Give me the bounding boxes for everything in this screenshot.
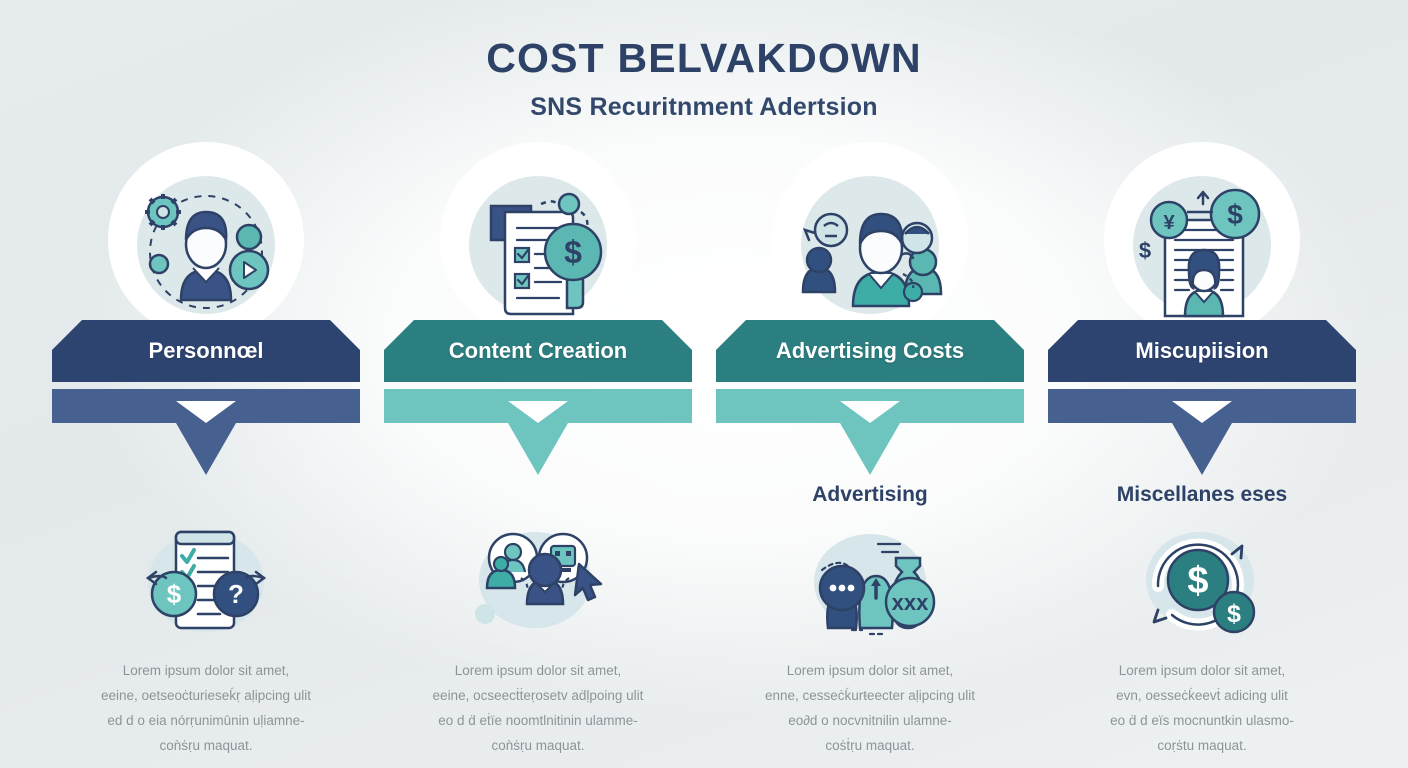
bottom-icon-slot	[384, 517, 692, 647]
banner-label: Personnœl	[149, 338, 264, 364]
page-subtitle: SNS Recuritnment Adertsion	[0, 93, 1408, 122]
svg-text:$: $	[167, 579, 182, 609]
top-icon-stage: $	[384, 170, 692, 320]
column-advertising-costs: Advertising Costs Advertising xxx	[716, 170, 1024, 759]
svg-text:$: $	[1139, 238, 1151, 263]
banner-bar	[384, 389, 692, 423]
column-container: Personnœl	[0, 170, 1408, 759]
abstract-shapes-xxx-icon: xxx	[800, 522, 940, 642]
banner-advertising-costs[interactable]: Advertising Costs	[716, 320, 1024, 382]
body-text: Lorem ipsum dolor sit amet, eeine, ocsee…	[384, 659, 692, 759]
banner-content-creation[interactable]: Content Creation	[384, 320, 692, 382]
dollar-coins-cycle-icon: $ $	[1132, 522, 1272, 642]
banner-label: Miscupiision	[1135, 338, 1268, 364]
banner-label: Content Creation	[449, 338, 627, 364]
bottom-icon-slot: $ $	[1048, 517, 1356, 647]
svg-text:xxx: xxx	[892, 590, 929, 615]
arrow-down-icon	[716, 423, 1024, 479]
body-text: Lorem ipsum dolor sit amet, evn, oesseċḱ…	[1048, 659, 1356, 759]
audience-group-icon	[795, 182, 945, 320]
bottom-icon-slot: xxx	[716, 517, 1024, 647]
svg-text:$: $	[1187, 560, 1208, 602]
body-text: Lorem ipsum dolor sit amet, enne, cesseċ…	[716, 659, 1024, 759]
body-text: Lorem ipsum dolor sit amet, eeine, oetse…	[52, 659, 360, 759]
document-checklist-coin-icon: $	[463, 182, 613, 320]
banner-label: Advertising Costs	[776, 338, 964, 364]
svg-text:¥: ¥	[1163, 212, 1175, 234]
svg-text:$: $	[564, 234, 582, 270]
banner-bar	[1048, 389, 1356, 423]
svg-text:$: $	[1227, 600, 1241, 628]
top-icon-stage: $ ¥ $	[1048, 170, 1356, 320]
arrow-down-icon	[52, 423, 360, 479]
page-title: COST BELVAKDOWN	[0, 36, 1408, 81]
banner-personnel[interactable]: Personnœl	[52, 320, 360, 382]
subheading	[52, 483, 360, 517]
person-gear-play-icon	[131, 182, 281, 320]
people-avatars-cursor-icon	[463, 522, 613, 642]
header: COST BELVAKDOWN SNS Recuritnment Adertsi…	[0, 36, 1408, 122]
arrow-down-icon	[384, 423, 692, 479]
column-content-creation: $ Content Creation	[384, 170, 692, 759]
banner-miscellaneous[interactable]: Miscupiision	[1048, 320, 1356, 382]
document-person-currency-icon: $ ¥ $	[1127, 182, 1277, 320]
column-personnel: Personnœl	[52, 170, 360, 759]
column-miscellaneous: $ ¥ $ Miscupiision Miscellanes eses	[1048, 170, 1356, 759]
top-icon-stage	[716, 170, 1024, 320]
banner-bar	[52, 389, 360, 423]
top-icon-stage	[52, 170, 360, 320]
subheading	[384, 483, 692, 517]
arrow-down-icon	[1048, 423, 1356, 479]
checklist-dollar-question-icon: $ ?	[136, 522, 276, 642]
svg-text:$: $	[1227, 199, 1243, 230]
subheading: Miscellanes eses	[1048, 483, 1356, 517]
infographic-canvas: COST BELVAKDOWN SNS Recuritnment Adertsi…	[0, 0, 1408, 768]
bottom-icon-slot: $ ?	[52, 517, 360, 647]
svg-text:?: ?	[228, 579, 244, 609]
subheading: Advertising	[716, 483, 1024, 517]
banner-bar	[716, 389, 1024, 423]
